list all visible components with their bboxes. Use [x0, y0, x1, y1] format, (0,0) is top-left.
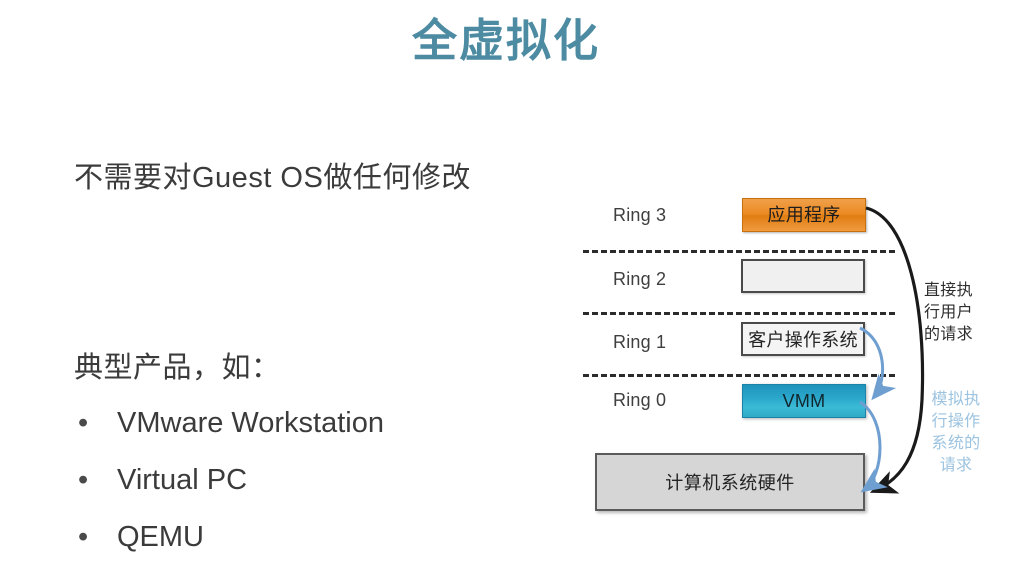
lead-statement: 不需要对Guest OS做任何修改 — [74, 158, 471, 198]
bullet-marker-icon: • — [78, 461, 88, 499]
privilege-ring-diagram: Ring 3 Ring 2 Ring 1 Ring 0 应用程序 客户操作系统 … — [578, 188, 1012, 518]
list-item-label: QEMU — [117, 518, 204, 556]
list-item: • QEMU — [74, 518, 514, 575]
list-item-label: VMware Workstation — [117, 404, 384, 442]
list-heading: 典型产品，如： — [74, 348, 281, 388]
list-item: • Virtual PC — [74, 461, 514, 518]
vmm-to-hardware-arrow — [860, 402, 880, 490]
direct-execution-arrow — [866, 208, 923, 491]
guest-to-vmm-arrow — [860, 328, 883, 397]
list-item-label: Virtual PC — [117, 461, 247, 499]
slide-canvas: 全虚拟化 不需要对Guest OS做任何修改 典型产品，如： • VMware … — [0, 0, 1012, 581]
page-title: 全虚拟化 — [0, 12, 1012, 70]
bullet-marker-icon: • — [78, 404, 88, 442]
annotation-emulated-execution: 模拟执 行操作 系统的 请求 — [920, 389, 992, 477]
product-list: • VMware Workstation • Virtual PC • QEMU — [74, 404, 514, 575]
annotation-direct-execution: 直接执 行用户 的请求 — [924, 280, 988, 346]
list-item: • VMware Workstation — [74, 404, 514, 461]
bullet-marker-icon: • — [78, 518, 88, 556]
